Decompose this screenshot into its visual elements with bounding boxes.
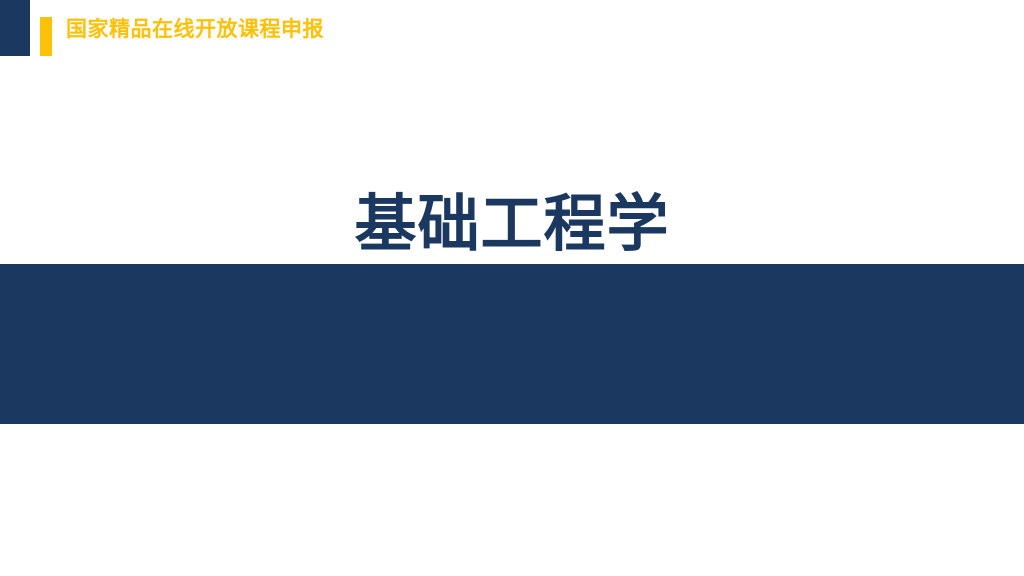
slide-header: 国家精品在线开放课程申报 [0, 0, 1024, 60]
institution-label: 华东交通大学土木建筑学院 [82, 548, 982, 575]
page-title: 基础工程学 [0, 190, 1024, 260]
info-band-text-group: 华东交通大学土木建筑学院 课程团队：徐长节、胡文韬、耿大新、可文海、陈丹华 [82, 548, 982, 576]
header-title: 国家精品在线开放课程申报 [66, 16, 324, 44]
header-navy-block [0, 0, 30, 56]
info-band: 华东交通大学土木建筑学院 课程团队：徐长节、胡文韬、耿大新、可文海、陈丹华 [0, 264, 1024, 424]
header-yellow-accent-bar [40, 17, 52, 56]
presentation-slide: 国家精品在线开放课程申报 基础工程学 华东交通大学土木建筑学院 课程团队：徐长节… [0, 0, 1024, 576]
